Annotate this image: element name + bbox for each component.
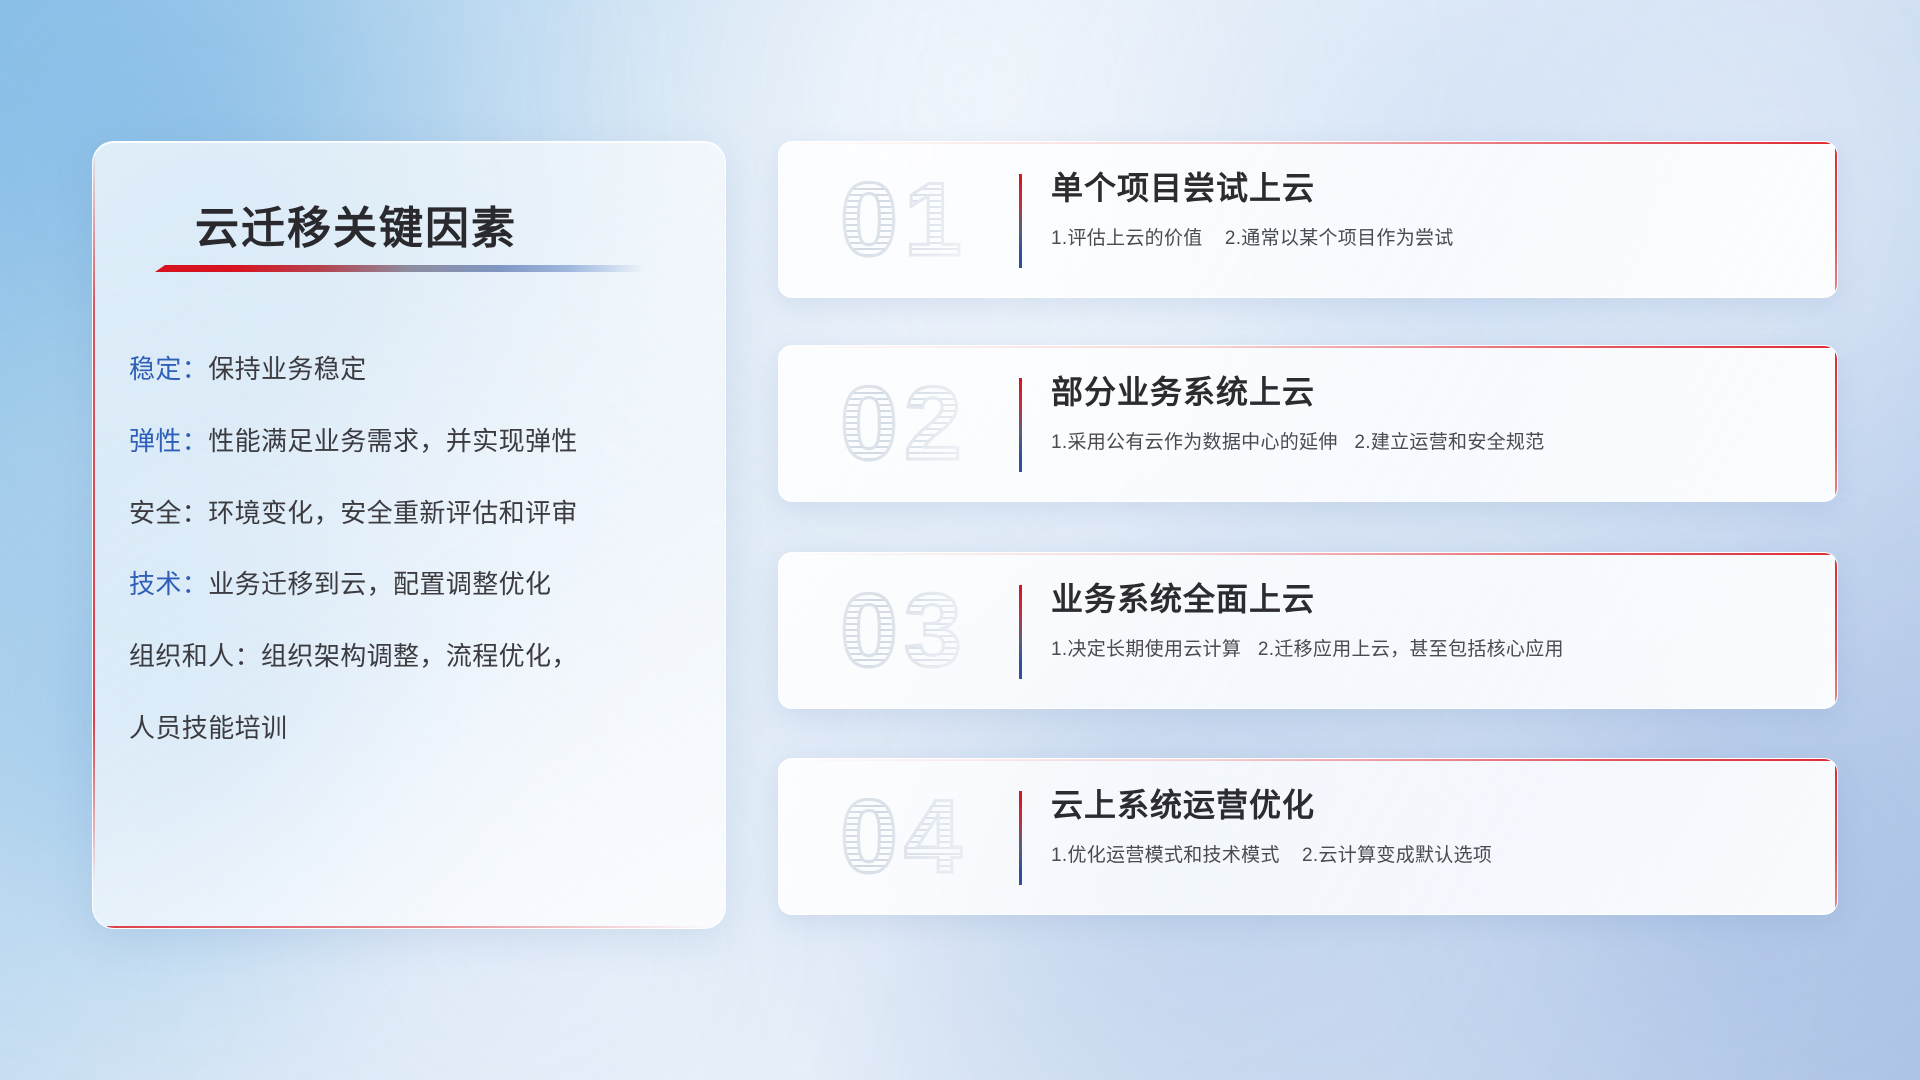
- list-item: 组织和人：组织架构调整，流程优化，: [129, 639, 689, 674]
- step-description: 1.采用公有云作为数据中心的延伸 2.建立运营和安全规范: [1051, 427, 1791, 454]
- list-item-label: 安全：: [129, 498, 208, 528]
- key-factors-card: 云迁移关键因素 稳定：保持业务稳定 弹性：性能满足业务需求，并实现弹性 安全：环…: [92, 141, 726, 929]
- page-title: 云迁移关键因素: [195, 192, 675, 256]
- list-item: 人员技能培训: [129, 711, 689, 746]
- list-item-text: 环境变化，安全重新评估和评审: [208, 498, 578, 528]
- list-item: 稳定：保持业务稳定: [129, 352, 689, 387]
- title-underline-rule: [155, 265, 645, 272]
- list-item-text: 性能满足业务需求，并实现弹性: [208, 426, 578, 456]
- list-item-text: 业务迁移到云，配置调整优化: [208, 569, 551, 599]
- list-item-text: 人员技能培训: [129, 713, 287, 743]
- list-item-label: 弹性：: [129, 426, 208, 456]
- step-card-01[interactable]: 01 单个项目尝试上云 1.评估上云的价值 2.通常以某个项目作为尝试: [778, 141, 1838, 298]
- list-item-label: 组织和人：: [129, 641, 261, 671]
- step-accent-bar: [1019, 174, 1022, 268]
- step-title: 云上系统运营优化: [1051, 785, 1791, 826]
- slide-stage: 云迁移关键因素 稳定：保持业务稳定 弹性：性能满足业务需求，并实现弹性 安全：环…: [0, 0, 1920, 1080]
- step-content: 部分业务系统上云 1.采用公有云作为数据中心的延伸 2.建立运营和安全规范: [1051, 372, 1791, 454]
- step-number: 01: [809, 164, 999, 276]
- list-item: 技术：业务迁移到云，配置调整优化: [129, 567, 689, 602]
- step-accent-bar: [1019, 585, 1022, 679]
- step-number: 03: [809, 575, 999, 687]
- step-description: 1.优化运营模式和技术模式 2.云计算变成默认选项: [1051, 840, 1791, 867]
- step-card-03[interactable]: 03 业务系统全面上云 1.决定长期使用云计算 2.迁移应用上云，甚至包括核心应…: [778, 552, 1838, 709]
- step-number: 04: [809, 781, 999, 893]
- list-item: 安全：环境变化，安全重新评估和评审: [129, 496, 689, 531]
- step-number: 02: [809, 368, 999, 480]
- step-title: 业务系统全面上云: [1051, 579, 1791, 620]
- step-title: 部分业务系统上云: [1051, 372, 1791, 413]
- step-description: 1.评估上云的价值 2.通常以某个项目作为尝试: [1051, 223, 1791, 250]
- step-card-04[interactable]: 04 云上系统运营优化 1.优化运营模式和技术模式 2.云计算变成默认选项: [778, 758, 1838, 915]
- step-content: 云上系统运营优化 1.优化运营模式和技术模式 2.云计算变成默认选项: [1051, 785, 1791, 867]
- step-title: 单个项目尝试上云: [1051, 168, 1791, 209]
- step-description: 1.决定长期使用云计算 2.迁移应用上云，甚至包括核心应用: [1051, 634, 1791, 661]
- step-content: 单个项目尝试上云 1.评估上云的价值 2.通常以某个项目作为尝试: [1051, 168, 1791, 250]
- list-item: 弹性：性能满足业务需求，并实现弹性: [129, 424, 689, 459]
- list-item-label: 稳定：: [129, 354, 208, 384]
- step-accent-bar: [1019, 378, 1022, 472]
- step-card-02[interactable]: 02 部分业务系统上云 1.采用公有云作为数据中心的延伸 2.建立运营和安全规范: [778, 345, 1838, 502]
- step-content: 业务系统全面上云 1.决定长期使用云计算 2.迁移应用上云，甚至包括核心应用: [1051, 579, 1791, 661]
- list-item-text: 保持业务稳定: [208, 354, 366, 384]
- list-item-label: 技术：: [129, 569, 208, 599]
- list-item-text: 组织架构调整，流程优化，: [261, 641, 578, 671]
- key-factors-list: 稳定：保持业务稳定 弹性：性能满足业务需求，并实现弹性 安全：环境变化，安全重新…: [129, 352, 689, 746]
- step-accent-bar: [1019, 791, 1022, 885]
